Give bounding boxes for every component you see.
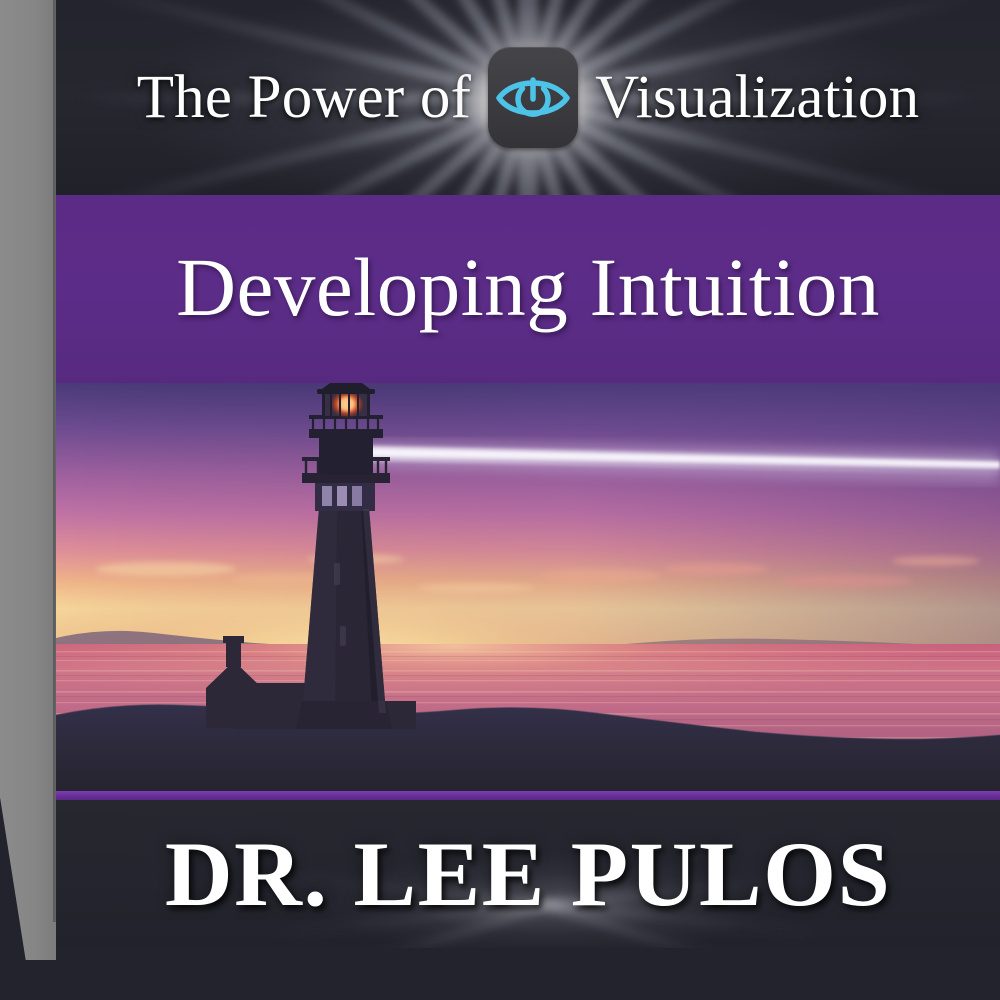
cover-content: The Power of Visualizat [56, 0, 1000, 1000]
author-name: DR. LEE PULOS [165, 828, 891, 920]
series-header-band: The Power of Visualizat [56, 0, 1000, 195]
author-name-wrap: DR. LEE PULOS [56, 800, 1000, 948]
spine-shadow-edge [53, 0, 56, 922]
lighthouse-sunset-photo [56, 383, 1000, 793]
bottom-fill [56, 948, 1000, 1000]
logo-tile [488, 47, 578, 148]
eye-power-icon [487, 47, 579, 149]
series-title-left: The Power of [137, 67, 487, 128]
purple-divider [56, 791, 1000, 800]
book-title: Developing Intuition [176, 246, 880, 329]
cover-spine [0, 0, 56, 960]
audiobook-cover: The Power of Visualizat [0, 0, 1000, 1000]
series-title: The Power of Visualizat [56, 0, 1000, 195]
spine-surface [0, 0, 56, 960]
series-title-right: Visualization [579, 67, 919, 128]
title-band: Developing Intuition [56, 195, 1000, 383]
